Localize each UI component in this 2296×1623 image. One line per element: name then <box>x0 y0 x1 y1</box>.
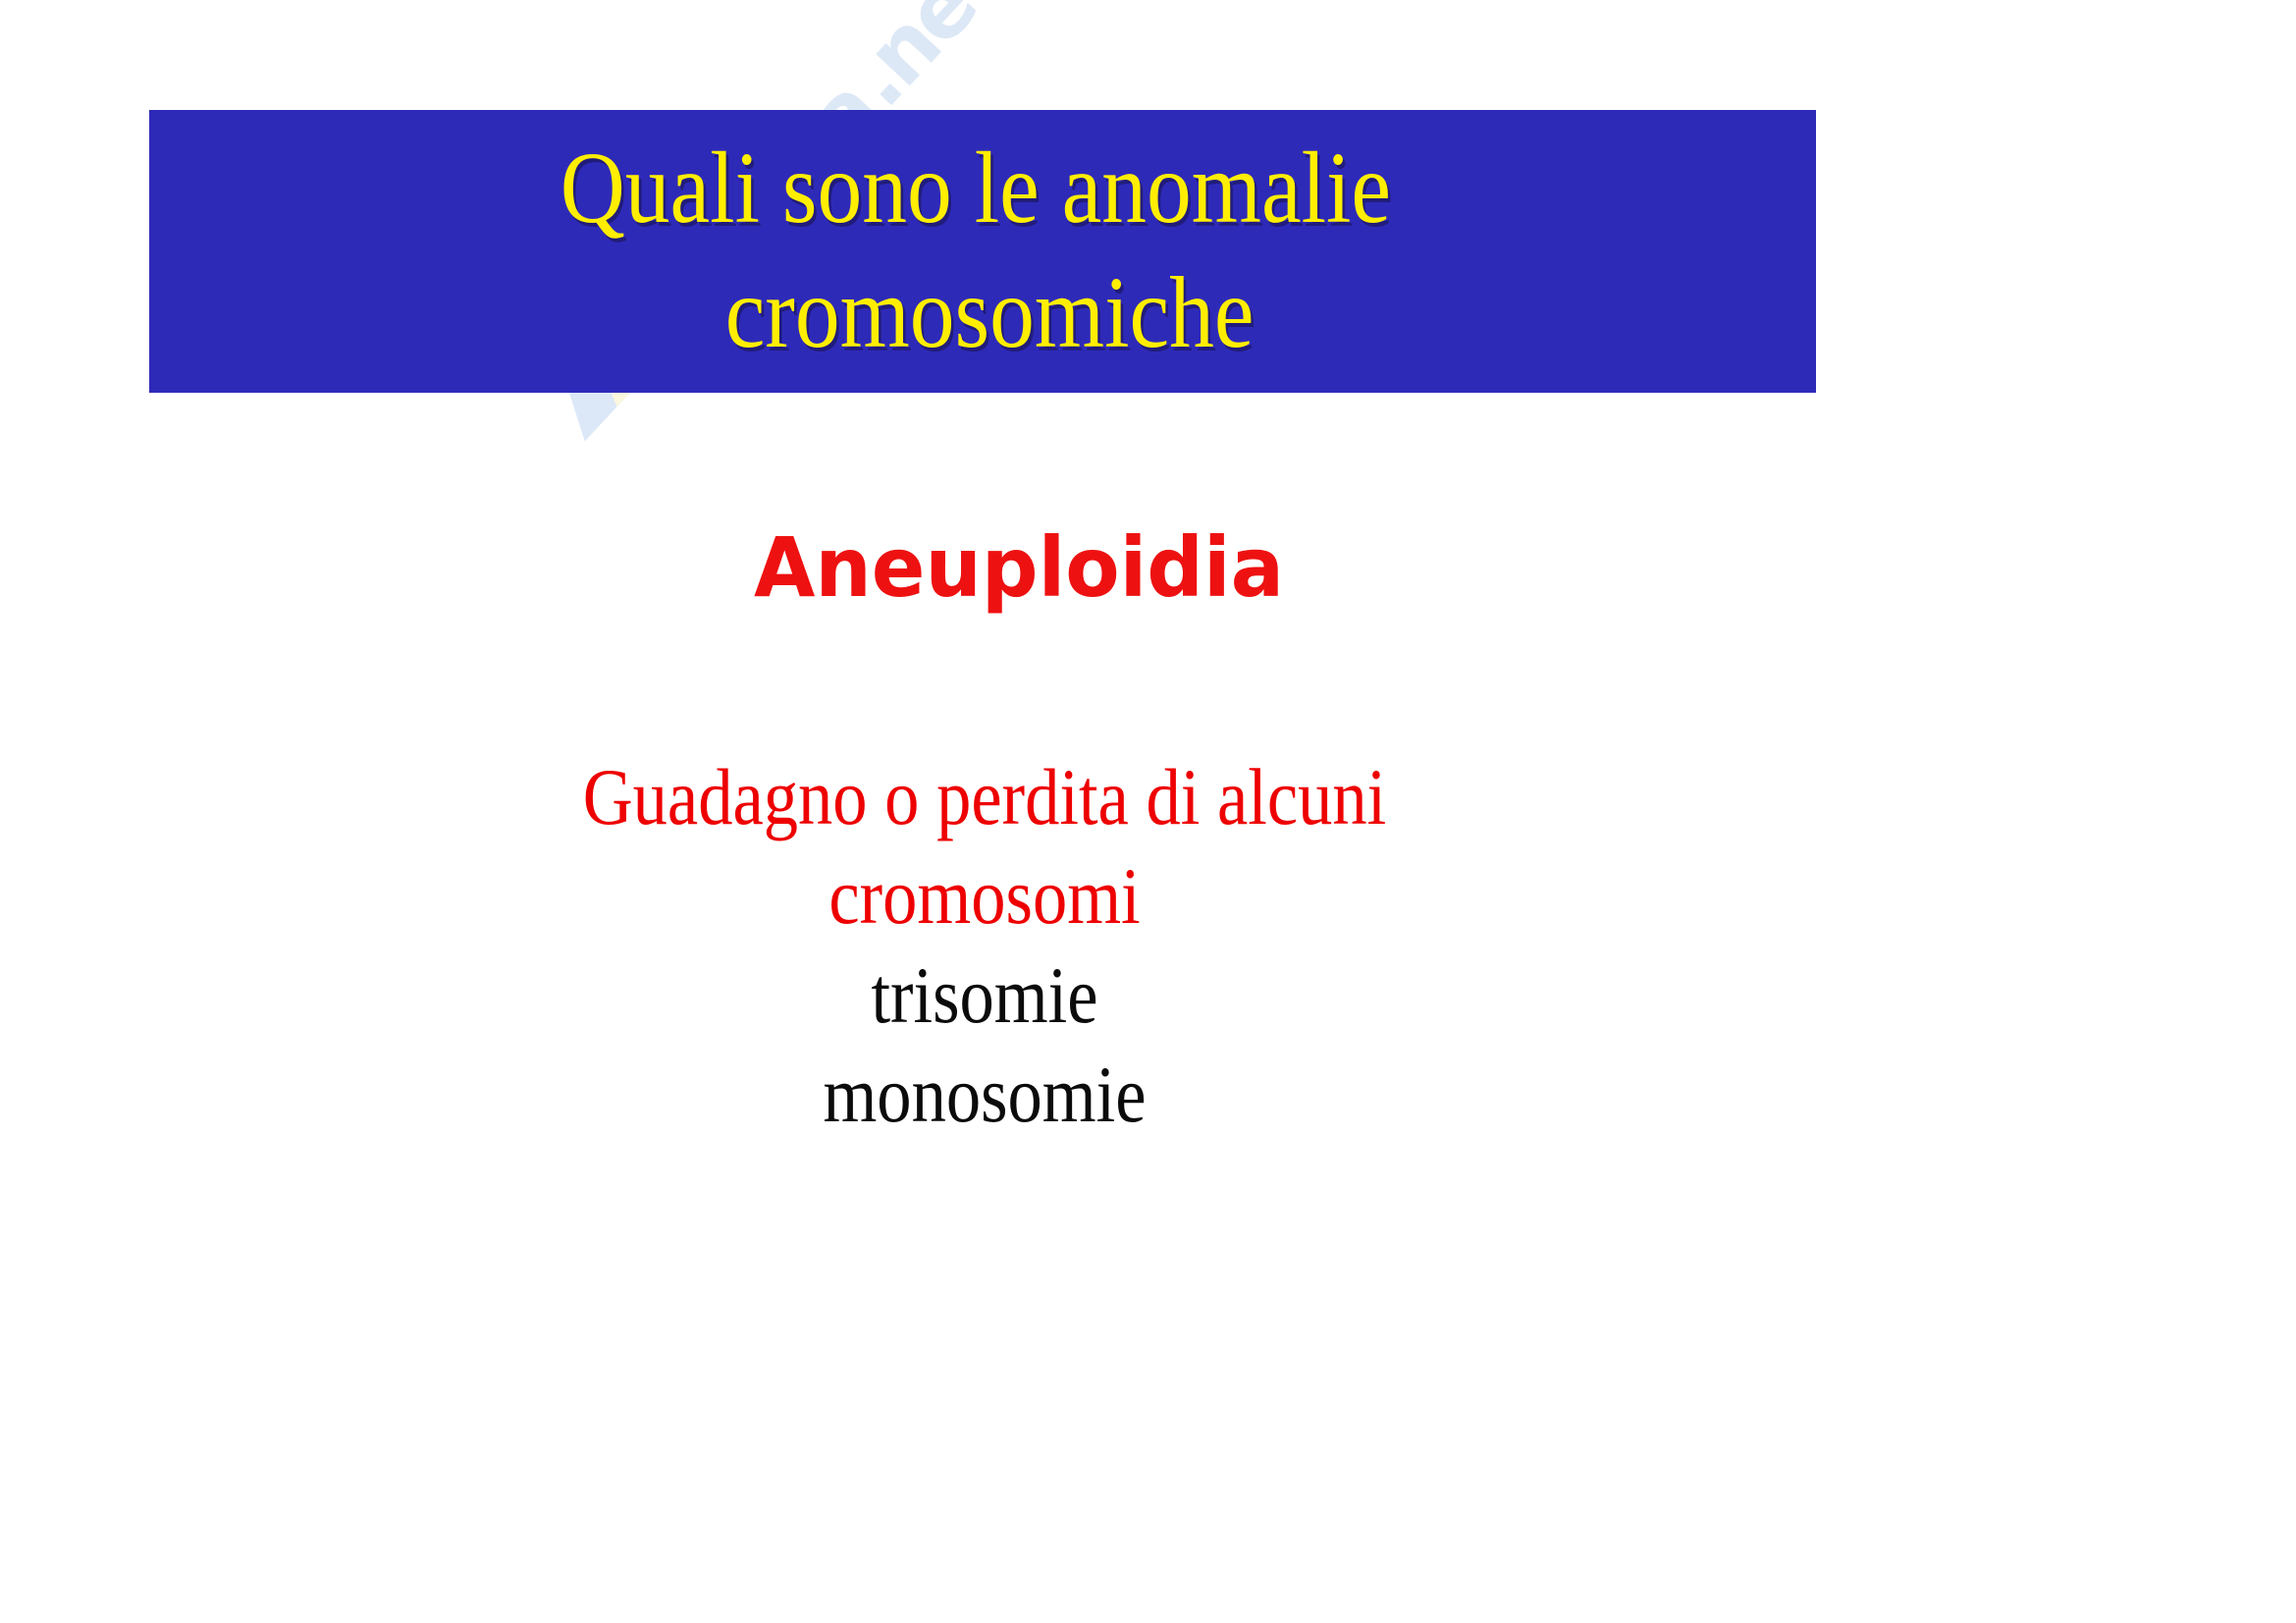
title-banner: Quali sono le anomalie cromosomiche <box>149 110 1816 393</box>
body-line-monosomie: monosomie <box>137 1046 1831 1145</box>
slide-title-line-2: cromosomiche <box>725 251 1255 376</box>
slide-canvas: Skuola.net il paradiso Quali sono le ano… <box>0 0 2296 1623</box>
body-line-trisomie: trisomie <box>137 947 1831 1046</box>
body-line-cromosomi: cromosomi <box>137 847 1831 947</box>
body-text-stack: Guadagno o perdita di alcuni cromosomi t… <box>0 748 1969 1144</box>
slide-title-line-1: Quali sono le anomalie <box>561 127 1391 251</box>
heading-aneuploidia: Aneuploidia <box>41 526 1998 609</box>
body-line-guadagno: Guadagno o perdita di alcuni <box>137 748 1831 847</box>
watermark-brand-suffix: .net <box>837 0 1012 118</box>
